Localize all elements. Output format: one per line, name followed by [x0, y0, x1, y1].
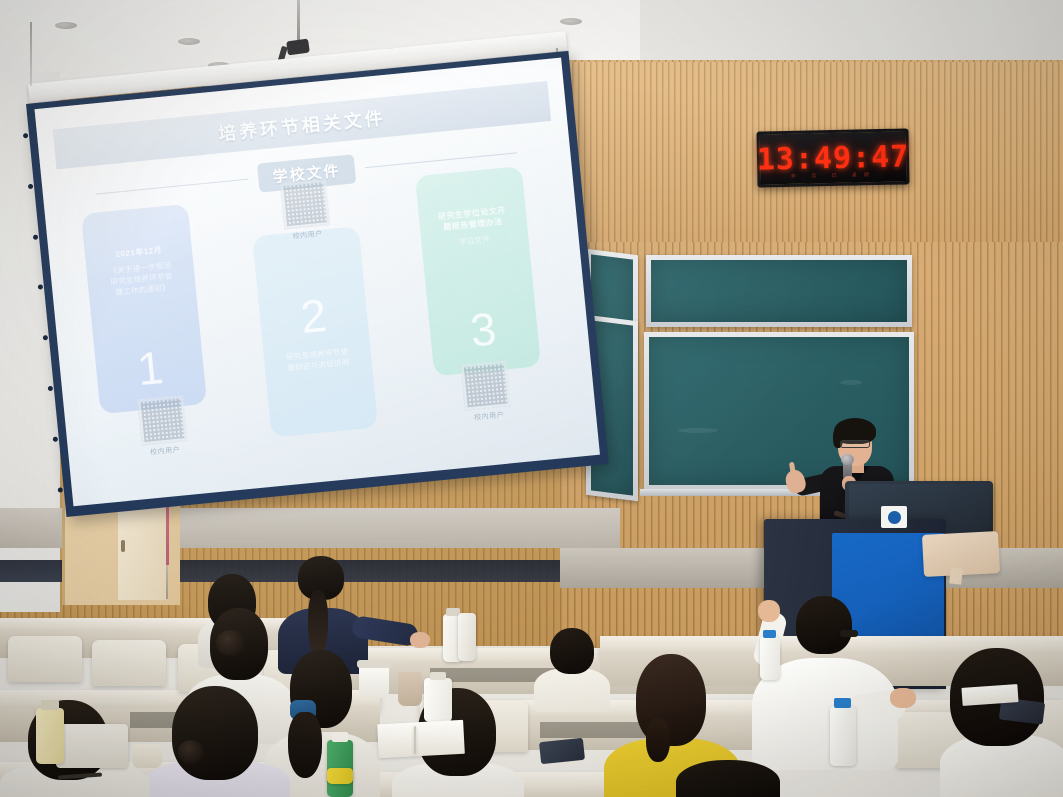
paper-cup[interactable]	[359, 664, 389, 698]
presenter-pointing-finger	[789, 462, 796, 477]
hair-bun	[178, 740, 204, 764]
water-bottle[interactable]	[760, 636, 780, 680]
water-bottle[interactable]	[830, 706, 856, 766]
person-hair	[676, 760, 780, 797]
slide-card-title: 2021年12月	[115, 244, 163, 260]
qr-code-block: 校内用户	[137, 395, 189, 458]
audience-member	[534, 628, 612, 700]
slide-card-number: 1	[135, 338, 166, 392]
subtitle-rule-left	[96, 178, 249, 194]
qr-code-icon	[280, 179, 330, 229]
dell-logo-tag	[881, 506, 907, 528]
qr-code-block: 校内用户	[280, 179, 332, 242]
slide-card-title: 研究生学位论文开题报告管理办法	[437, 205, 509, 234]
person-arm	[351, 615, 420, 647]
slide-card-desc: 研究生培养环节管理规定与流程说明	[282, 345, 354, 374]
bottle-cap	[41, 700, 59, 710]
seat	[8, 636, 82, 682]
cup-lid	[357, 660, 391, 668]
person-hand	[410, 632, 430, 648]
ceiling-spotlight	[560, 18, 582, 25]
water-bottle[interactable]	[424, 678, 452, 722]
smartphone[interactable]	[539, 738, 585, 764]
slide-card-desc: 学位文件	[458, 233, 490, 247]
ceiling-spotlight	[55, 22, 77, 29]
glasses-icon	[840, 440, 870, 448]
open-notebook[interactable]	[377, 720, 465, 758]
seat	[92, 640, 166, 686]
slide-card-number: 3	[468, 300, 499, 354]
qr-code-icon	[137, 395, 187, 445]
digital-wall-clock: 13:49:47 年 月 日 星期	[756, 128, 909, 187]
bottle-label	[327, 768, 353, 784]
slide-card: 2021年12月 《关于进一步规范研究生培养环节管理工作的通知》 1	[81, 204, 207, 415]
bottle-cap-blue	[834, 698, 851, 708]
ponytail	[288, 712, 322, 778]
water-bottle-yellow[interactable]	[36, 708, 64, 764]
qr-code-icon	[461, 361, 511, 411]
microphone-head-icon	[841, 454, 854, 465]
slide-card: 2 研究生培养环节管理规定与流程说明	[252, 227, 378, 438]
person-body	[534, 668, 610, 712]
slide-card-desc: 《关于进一步规范研究生培养环节管理工作的通知》	[105, 259, 178, 299]
slide-card-number: 2	[298, 286, 329, 340]
ceiling-spotlight	[178, 38, 200, 45]
person-hair	[550, 628, 594, 674]
audience-member	[150, 686, 282, 797]
chalkboard-upper	[646, 255, 912, 327]
projection-screen: 培养环节相关文件 学校文件 2021年12月 《关于进一步规范研究生培养环节管理…	[26, 51, 609, 517]
screen-surface: 培养环节相关文件 学校文件 2021年12月 《关于进一步规范研究生培养环节管理…	[35, 58, 600, 507]
thermos-cup[interactable]	[398, 672, 422, 706]
person-hair	[796, 596, 852, 654]
notebook-page-line	[414, 726, 416, 754]
thermos-flask[interactable]	[458, 613, 476, 661]
bottle-cap-blue	[763, 630, 776, 638]
slide-card: 研究生学位论文开题报告管理办法 学位文件 3	[414, 166, 540, 377]
projector-mount-rod	[297, 0, 300, 44]
screen-hanging-cable	[30, 22, 32, 86]
hair-bun	[216, 630, 246, 656]
dell-logo-icon	[888, 511, 901, 524]
person-hand	[890, 688, 916, 708]
bowl-cup[interactable]	[132, 744, 162, 768]
slide-card-group: 2021年12月 《关于进一步规范研究生培养环节管理工作的通知》 1 2 研究生…	[76, 164, 567, 487]
lecture-hall-photo: 13:49:47 年 月 日 星期 培养环节相关文件 学校文件 2021年12月…	[0, 0, 1063, 797]
audience-member	[752, 596, 902, 776]
qr-caption: 校内用户	[150, 445, 181, 458]
qr-caption: 校内用户	[474, 410, 505, 423]
audience-member	[944, 648, 1063, 797]
person-hair	[172, 686, 258, 780]
slide-title: 培养环节相关文件	[217, 104, 387, 146]
ponytail	[308, 590, 328, 656]
bottle-cap	[332, 732, 348, 742]
person-glasses-arm	[840, 630, 858, 637]
bottle-cap	[430, 672, 446, 680]
ponytail	[646, 718, 670, 762]
subtitle-rule-right	[364, 152, 517, 168]
audience-member	[676, 760, 786, 797]
door-handle[interactable]	[121, 540, 125, 552]
draped-cloth-fold	[949, 567, 963, 584]
qr-code-block: 校内用户	[461, 361, 513, 424]
person-hand	[758, 600, 780, 622]
pencil-case[interactable]	[56, 724, 128, 768]
